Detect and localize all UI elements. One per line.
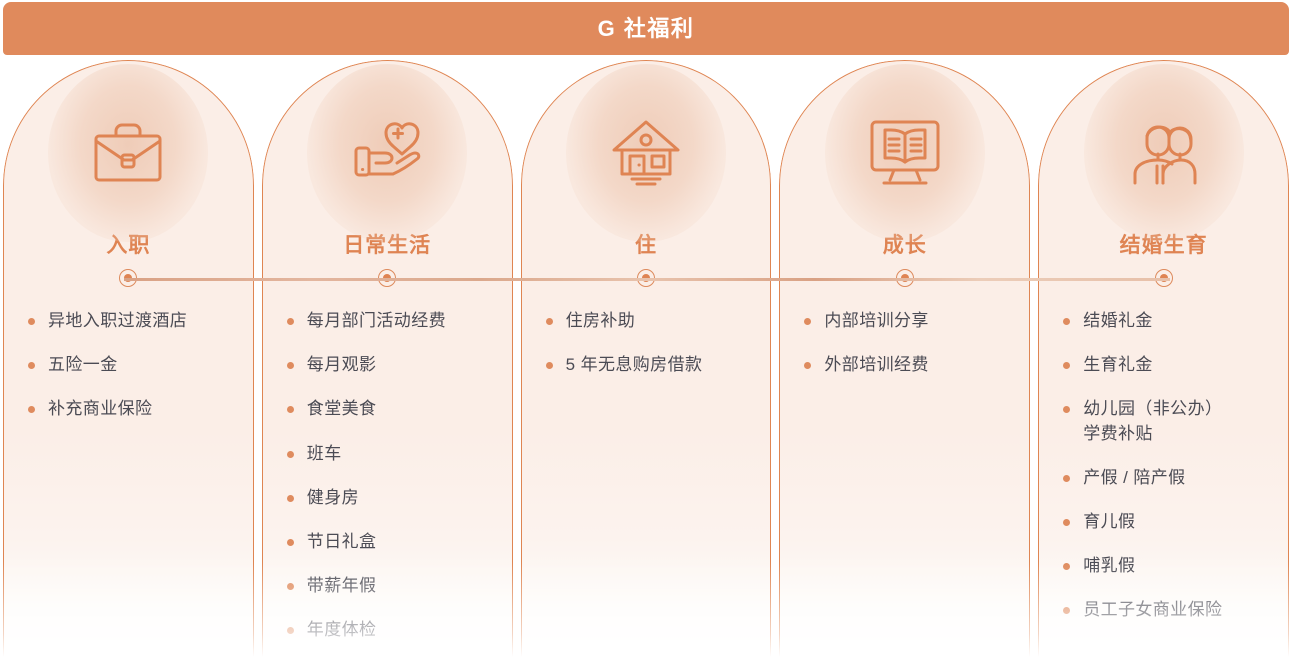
list-item: 班车 bbox=[285, 442, 504, 466]
list-item: 每月部门活动经费 bbox=[285, 309, 504, 333]
benefit-list-onboarding: 异地入职过渡酒店 五险一金 补充商业保险 bbox=[4, 309, 253, 421]
list-item: 健身房 bbox=[285, 486, 504, 510]
list-item: 产假 / 陪产假 bbox=[1061, 466, 1280, 490]
icon-container bbox=[839, 87, 971, 219]
page-title: G 社福利 bbox=[598, 18, 695, 40]
list-item: 结婚礼金 bbox=[1061, 309, 1280, 333]
benefit-columns: 入职 异地入职过渡酒店 五险一金 补充商业保险 bbox=[0, 60, 1292, 657]
list-item: 食堂美食 bbox=[285, 397, 504, 421]
benefits-board: 入职 异地入职过渡酒店 五险一金 补充商业保险 bbox=[0, 60, 1292, 657]
benefit-card-housing[interactable]: 住 住房补助 5 年无息购房借款 bbox=[521, 60, 772, 657]
hand-heart-icon bbox=[347, 117, 427, 189]
briefcase-icon bbox=[89, 117, 167, 189]
list-item: 内部培训分享 bbox=[802, 309, 1021, 333]
list-item: 五险一金 bbox=[26, 353, 245, 377]
icon-container bbox=[580, 87, 712, 219]
list-item: 幼儿园（非公办） 学费补贴 bbox=[1061, 397, 1280, 445]
list-item: 每月观影 bbox=[285, 353, 504, 377]
icon-container bbox=[1098, 87, 1230, 219]
list-item: 育儿假 bbox=[1061, 510, 1280, 534]
list-item: 外部培训经费 bbox=[802, 353, 1021, 377]
benefit-list-housing: 住房补助 5 年无息购房借款 bbox=[522, 309, 771, 377]
benefit-card-onboarding[interactable]: 入职 异地入职过渡酒店 五险一金 补充商业保险 bbox=[3, 60, 254, 657]
timeline-connector bbox=[124, 278, 1170, 281]
icon-container bbox=[321, 87, 453, 219]
list-item: 年度体检 bbox=[285, 618, 504, 642]
benefit-list-daily-life: 每月部门活动经费 每月观影 食堂美食 班车 健身房 节日礼盒 带薪年假 年度体检 bbox=[263, 309, 512, 642]
header-banner: G 社福利 bbox=[3, 2, 1289, 55]
benefit-list-marriage-parenting: 结婚礼金 生育礼金 幼儿园（非公办） 学费补贴 产假 / 陪产假 育儿假 哺乳假… bbox=[1039, 309, 1288, 622]
list-item: 补充商业保险 bbox=[26, 397, 245, 421]
monitor-book-icon bbox=[866, 118, 944, 188]
list-item: 哺乳假 bbox=[1061, 554, 1280, 578]
list-item: 异地入职过渡酒店 bbox=[26, 309, 245, 333]
benefit-card-growth[interactable]: 成长 内部培训分享 外部培训经费 bbox=[779, 60, 1030, 657]
couple-icon bbox=[1123, 118, 1205, 188]
benefit-card-marriage-parenting[interactable]: 结婚生育 结婚礼金 生育礼金 幼儿园（非公办） 学费补贴 产假 / 陪产假 育儿… bbox=[1038, 60, 1289, 657]
list-item: 员工子女商业保险 bbox=[1061, 598, 1280, 622]
list-item: 生育礼金 bbox=[1061, 353, 1280, 377]
list-item: 住房补助 bbox=[544, 309, 763, 333]
list-item: 节日礼盒 bbox=[285, 530, 504, 554]
list-item: 5 年无息购房借款 bbox=[544, 353, 763, 377]
benefit-card-daily-life[interactable]: 日常生活 每月部门活动经费 每月观影 食堂美食 班车 健身房 节日礼盒 带薪年假… bbox=[262, 60, 513, 657]
house-icon bbox=[608, 116, 684, 190]
benefit-list-growth: 内部培训分享 外部培训经费 bbox=[780, 309, 1029, 377]
icon-container bbox=[62, 87, 194, 219]
list-item: 带薪年假 bbox=[285, 574, 504, 598]
